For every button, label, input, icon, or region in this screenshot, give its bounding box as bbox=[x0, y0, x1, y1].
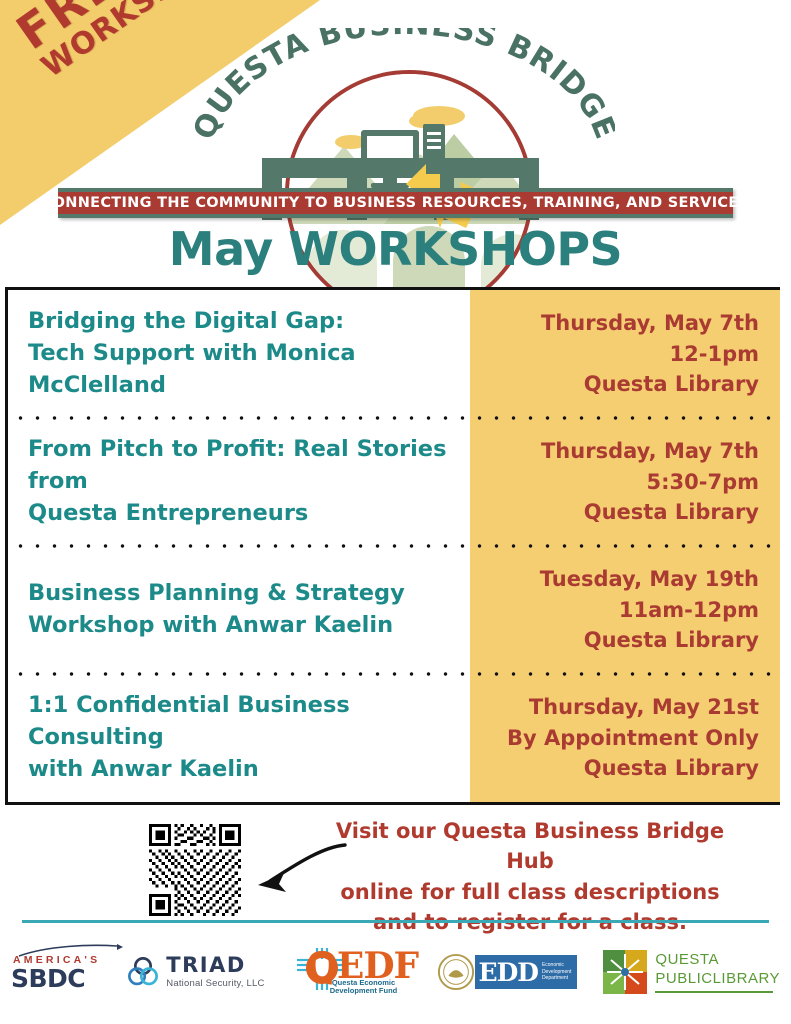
workshops-table: Bridging the Digital Gap: Tech Support w… bbox=[5, 287, 780, 805]
edd-sub-line-3: Department bbox=[542, 975, 571, 982]
workshop-date: Thursday, May 7th bbox=[480, 308, 759, 338]
page-title: May WORKSHOPS bbox=[0, 222, 791, 276]
triad-national-security-logo: TRIAD National Security, LLC bbox=[126, 946, 264, 998]
qedf-sub-line-2: Development Fund bbox=[321, 987, 407, 996]
workshop-title-line: Bridging the Digital Gap: bbox=[28, 306, 458, 338]
workshop-title-line: Business Planning & Strategy bbox=[28, 578, 458, 610]
workshop-title-line: Tech Support with Monica McClelland bbox=[28, 338, 458, 402]
flyer-page: FREE WORKSHOPS bbox=[0, 0, 791, 1024]
triad-subtitle: National Security, LLC bbox=[166, 978, 264, 989]
table-row: Business Planning & Strategy Workshop wi… bbox=[8, 546, 777, 674]
workshop-title-line: Workshop with Anwar Kaelin bbox=[28, 610, 458, 642]
table-row: From Pitch to Profit: Real Stories from … bbox=[8, 418, 777, 546]
workshop-date: Thursday, May 7th bbox=[480, 436, 759, 466]
workshop-date: Tuesday, May 19th bbox=[480, 564, 759, 594]
americas-sbdc-logo: AMERICA'S SBDC bbox=[11, 946, 100, 998]
workshop-title-line: 1:1 Confidential Business Consulting bbox=[28, 690, 458, 754]
cta-line: Visit our Questa Business Bridge Hub bbox=[330, 816, 730, 877]
workshop-title-cell: Bridging the Digital Gap: Tech Support w… bbox=[8, 306, 470, 402]
workshop-location: Questa Library bbox=[480, 625, 759, 655]
qedf-logo: QEDF Questa Economic Development Fund bbox=[291, 946, 411, 998]
workshop-schedule-cell: Thursday, May 7th 12-1pm Questa Library bbox=[470, 308, 777, 399]
workshop-time: 11am-12pm bbox=[480, 595, 759, 625]
workshop-location: Questa Library bbox=[480, 497, 759, 527]
workshop-title-line: Questa Entrepreneurs bbox=[28, 498, 458, 530]
sbdc-wordmark: SBDC bbox=[11, 966, 85, 991]
questa-business-bridge-logo: QUESTA BUSINESS BRIDGE bbox=[195, 28, 615, 203]
qpl-line-1: QUESTA bbox=[655, 951, 780, 970]
edd-wordmark: EDD bbox=[479, 960, 538, 985]
workshop-time: 5:30-7pm bbox=[480, 467, 759, 497]
workshop-location: Questa Library bbox=[480, 369, 759, 399]
workshop-time: By Appointment Only bbox=[480, 723, 759, 753]
tagline-banner: CONNECTING THE COMMUNITY TO BUSINESS RES… bbox=[58, 188, 733, 218]
logo-arc-label: QUESTA BUSINESS BRIDGE bbox=[195, 28, 615, 145]
workshop-schedule-cell: Tuesday, May 19th 11am-12pm Questa Libra… bbox=[470, 564, 777, 655]
footer-divider bbox=[22, 920, 769, 923]
triad-wordmark: TRIAD bbox=[166, 955, 264, 976]
qpl-line-2: PUBLICLIBRARY bbox=[655, 970, 780, 989]
edd-wordmark-box: EDD Economic Development Department bbox=[475, 955, 578, 989]
qedf-subtitle: Questa Economic Development Fund bbox=[321, 979, 407, 996]
logo-arc-text: QUESTA BUSINESS BRIDGE bbox=[195, 28, 615, 178]
table-row: Bridging the Digital Gap: Tech Support w… bbox=[8, 290, 777, 418]
nm-edd-logo: EDD Economic Development Department bbox=[437, 946, 578, 998]
cta-line: online for full class descriptions bbox=[330, 877, 730, 907]
qpl-underline bbox=[655, 991, 773, 993]
workshop-rows: Bridging the Digital Gap: Tech Support w… bbox=[8, 290, 777, 802]
workshop-title-cell: 1:1 Confidential Business Consulting wit… bbox=[8, 690, 470, 786]
call-to-action-section: Visit our Questa Business Bridge Hub onl… bbox=[0, 812, 791, 917]
questa-public-library-logo: QUESTA PUBLICLIBRARY bbox=[603, 946, 780, 998]
qr-code[interactable] bbox=[148, 824, 242, 916]
workshop-title-cell: From Pitch to Profit: Real Stories from … bbox=[8, 434, 470, 530]
workshop-schedule-cell: Thursday, May 21st By Appointment Only Q… bbox=[470, 692, 777, 783]
triquetra-icon bbox=[126, 955, 160, 989]
edd-sub-line-2: Development bbox=[542, 969, 571, 976]
sbdc-swoosh-icon bbox=[17, 944, 129, 958]
workshop-title-line: with Anwar Kaelin bbox=[28, 754, 458, 786]
edd-sub-line-1: Economic bbox=[542, 962, 571, 969]
tagline-text: CONNECTING THE COMMUNITY TO BUSINESS RES… bbox=[42, 195, 750, 211]
sponsor-logos: AMERICA'S SBDC TRIAD National Security, … bbox=[0, 932, 791, 1012]
library-starburst-icon bbox=[603, 950, 647, 994]
workshop-title-line: From Pitch to Profit: Real Stories from bbox=[28, 434, 458, 498]
edd-subtitle: Economic Development Department bbox=[542, 962, 571, 982]
workshop-time: 12-1pm bbox=[480, 339, 759, 369]
state-seal-icon bbox=[437, 953, 475, 991]
workshop-location: Questa Library bbox=[480, 753, 759, 783]
workshop-title-cell: Business Planning & Strategy Workshop wi… bbox=[8, 578, 470, 642]
workshop-date: Thursday, May 21st bbox=[480, 692, 759, 722]
workshop-schedule-cell: Thursday, May 7th 5:30-7pm Questa Librar… bbox=[470, 436, 777, 527]
table-row: 1:1 Confidential Business Consulting wit… bbox=[8, 674, 777, 802]
